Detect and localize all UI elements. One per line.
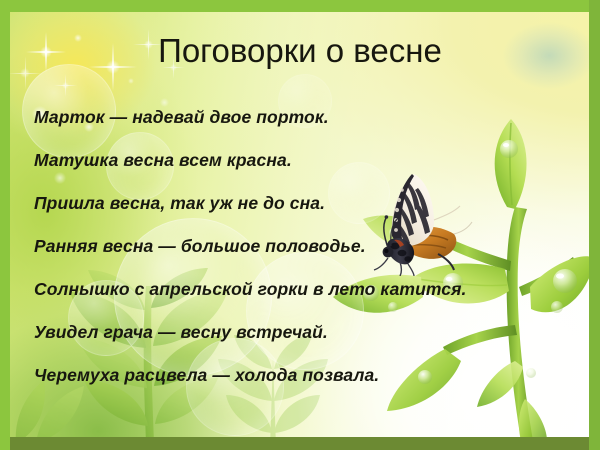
page-title: Поговорки о весне <box>0 32 600 70</box>
border-top <box>0 0 600 12</box>
sparkle-star-icon <box>62 82 69 89</box>
list-item: Пришла весна, так уж не до сна. <box>34 192 574 235</box>
list-item: Солнышко с апрельской горки в лето катит… <box>34 278 574 321</box>
border-right <box>589 0 600 450</box>
list-item: Черемуха расцвела — холода позвала. <box>34 364 574 407</box>
list-item: Марток — надевай двое порток. <box>34 106 574 149</box>
border-left <box>0 0 10 450</box>
list-item: Матушка весна всем красна. <box>34 149 574 192</box>
border-bottom <box>0 437 600 450</box>
proverb-list: Марток — надевай двое порток. Матушка ве… <box>34 106 574 407</box>
sparkle-star-icon <box>128 78 134 84</box>
list-item: Увидел грача — весну встречай. <box>34 321 574 364</box>
list-item: Ранняя весна — большое половодье. <box>34 235 574 278</box>
slide: Поговорки о весне Марток — надевай двое … <box>0 0 600 450</box>
